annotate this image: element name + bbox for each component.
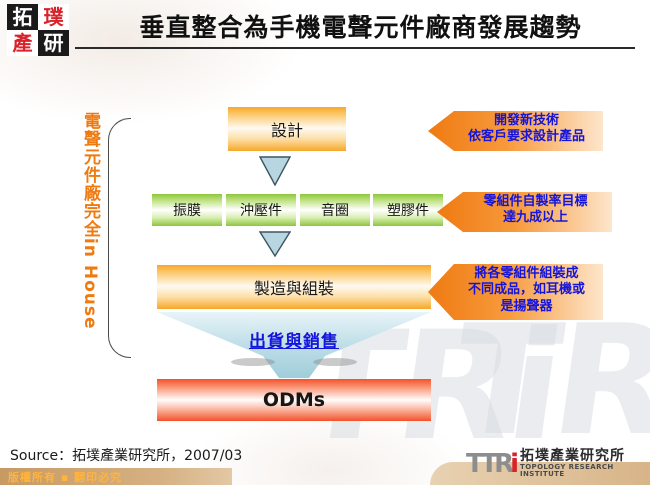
down-triangle-icon	[259, 231, 291, 257]
tri-corner-logo: 拓 璞 產 研	[7, 4, 69, 56]
slide-canvas: TRi TRi 拓 璞 產 研 垂直整合為手機電聲元件廠商發展趨勢 電聲元件廠完…	[0, 0, 650, 485]
callout-assembly-line-0: 將各零組件組裝成	[458, 266, 595, 282]
callout-parts-text: 零組件自製率目標 達九成以上	[437, 190, 612, 231]
source-note: Source：拓墣產業研究所，2007/03	[10, 445, 242, 465]
callout-parts-line-0: 零組件自製率目標	[467, 194, 604, 210]
copyright-bar: 版權所有 ▪ 翻印必究	[0, 468, 232, 485]
funnel-label-shipping-sales: 出貨與銷售	[157, 327, 431, 352]
callout-parts[interactable]: 零組件自製率目標 達九成以上	[437, 190, 612, 234]
flow-box-part-3[interactable]: 塑膠件	[373, 194, 443, 226]
logo-char-3: 產	[7, 30, 38, 56]
title-underline-rule	[75, 47, 635, 49]
vertical-scope-label-latin: in House	[80, 238, 100, 330]
logo-char-1: 拓	[7, 4, 38, 30]
flow-box-part-0[interactable]: 振膜	[152, 194, 222, 226]
callout-assembly[interactable]: 將各零組件組裝成 不同成品，如耳機或 是揚聲器	[428, 262, 603, 322]
callout-assembly-text: 將各零組件組裝成 不同成品，如耳機或 是揚聲器	[428, 262, 603, 319]
callout-assembly-line-1: 不同成品，如耳機或	[458, 282, 595, 298]
flow-box-part-2[interactable]: 音圈	[300, 194, 370, 226]
vertical-scope-label: 電聲元件廠完全in House	[72, 112, 98, 357]
page-title: 垂直整合為手機電聲元件廠商發展趨勢	[88, 8, 633, 44]
tri-wordmark: TTRi	[466, 451, 515, 477]
tri-footer-logo: TTRi 拓墣產業研究所 TOPOLOGY RESEARCH INSTITUTE	[466, 450, 650, 478]
flow-box-manufacturing[interactable]: 製造與組裝	[157, 265, 431, 309]
tri-brand-names: 拓墣產業研究所 TOPOLOGY RESEARCH INSTITUTE	[520, 449, 650, 478]
logo-char-4: 研	[38, 30, 69, 56]
left-brace-icon	[108, 118, 131, 358]
tri-brand-cn: 拓墣產業研究所	[520, 449, 650, 464]
vertical-scope-label-cn: 電聲元件廠完全	[80, 112, 100, 238]
flow-box-design[interactable]: 設計	[228, 107, 346, 151]
tri-wordmark-letters: TTR	[466, 449, 510, 479]
logo-char-2: 璞	[38, 4, 69, 30]
callout-design-line-1: 依客戶要求設計產品	[458, 129, 595, 145]
tri-wordmark-accent: i	[510, 449, 515, 479]
callout-design-line-0: 開發新技術	[458, 113, 595, 129]
flow-box-part-1[interactable]: 沖壓件	[226, 194, 296, 226]
callout-assembly-line-2: 是揚聲器	[458, 299, 595, 315]
flow-box-odms[interactable]: ODMs	[157, 379, 431, 421]
callout-design[interactable]: 開發新技術 依客戶要求設計產品	[428, 109, 603, 153]
callout-parts-line-1: 達九成以上	[467, 210, 604, 226]
callout-design-text: 開發新技術 依客戶要求設計產品	[428, 109, 603, 150]
tri-brand-en: TOPOLOGY RESEARCH INSTITUTE	[520, 464, 650, 479]
down-triangle-icon	[259, 156, 291, 186]
